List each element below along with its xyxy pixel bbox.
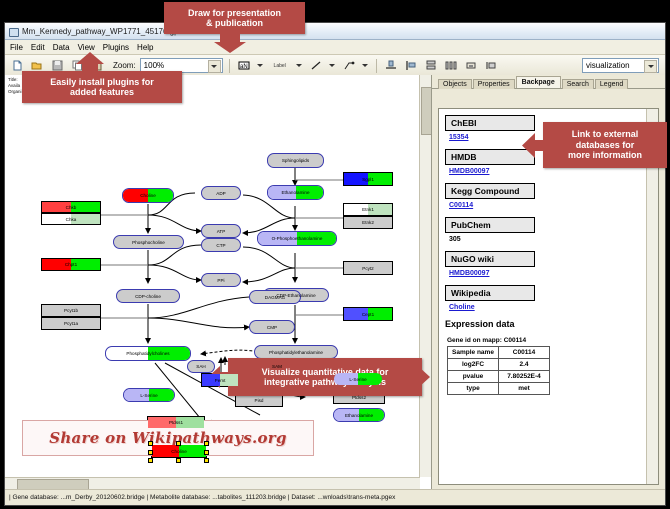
node-label: DAGMAG <box>265 295 285 300</box>
cell-value: C00114 <box>499 347 550 359</box>
status-text: | Gene database: ...m_Derby_20120602.bri… <box>9 494 395 501</box>
menu-file[interactable]: File <box>10 43 23 52</box>
chevron-down-icon[interactable] <box>208 60 221 73</box>
interaction-caret-icon[interactable] <box>361 59 370 73</box>
annotation-link-line3: more information <box>568 150 642 160</box>
node-label: Sphingolipids <box>282 158 309 163</box>
resize-handle-ne[interactable] <box>204 441 209 446</box>
cell-value: met <box>499 383 550 395</box>
annotation-plugins-banner: Easily install plugins for added feature… <box>22 71 182 103</box>
zoom-label: Zoom: <box>113 61 136 70</box>
canvas-vertical-scrollbar[interactable] <box>419 75 431 477</box>
annotation-link-line2: databases for <box>568 140 642 150</box>
annotation-viz-arrow-right-icon <box>408 366 430 388</box>
wikipedia-header: Wikipedia <box>445 285 535 301</box>
node-label: L-Serine <box>140 393 157 398</box>
node-label: Choline <box>140 193 156 198</box>
nugo-link[interactable]: HMDB00097 <box>449 270 644 277</box>
kegg-link[interactable]: C00114 <box>449 202 644 209</box>
resize-handle-se[interactable] <box>204 458 209 463</box>
interaction-icon[interactable] <box>341 58 357 74</box>
node-label: Pcyt1a <box>64 321 78 326</box>
annotation-draw-line1: Draw for presentation <box>188 8 281 18</box>
node-o-phosphoethanolamine[interactable]: O-Phosphoethanolamine <box>257 231 337 246</box>
hmdb-link[interactable]: HMDB00097 <box>449 168 644 175</box>
window-title: Mm_Kennedy_pathway_WP1771_45176.gpml <box>22 27 187 36</box>
node-l-serine-right[interactable]: L-Serine <box>333 372 383 386</box>
menu-plugins[interactable]: Plugins <box>103 43 129 52</box>
node-cdp-choline[interactable]: CDP-choline <box>116 289 180 303</box>
cell-key: Sample name <box>448 347 499 359</box>
table-row: pvalue 7.80252E-4 <box>448 371 550 383</box>
nugo-header: NuGO wiki <box>445 251 535 267</box>
tab-properties[interactable]: Properties <box>473 79 515 89</box>
node-label: Chka <box>66 217 77 222</box>
node-label: CDP-choline <box>135 294 161 299</box>
tab-objects[interactable]: Objects <box>438 79 472 89</box>
line-icon[interactable] <box>308 58 324 74</box>
node-ethanolamine-right[interactable]: Ethanolamine <box>333 408 385 422</box>
svg-text:aN: aN <box>240 64 248 70</box>
table-row: type met <box>448 383 550 395</box>
node-chka[interactable]: Chka <box>41 213 101 225</box>
node-pcyt1a[interactable]: Pcyt1a <box>41 317 101 330</box>
screenshot-root: Mm_Kennedy_pathway_WP1771_45176.gpml Fil… <box>0 0 670 509</box>
visualization-chevron-down-icon[interactable] <box>644 60 657 73</box>
node-pcyt2[interactable]: Pcyt2 <box>343 261 393 275</box>
side-panel-tabs: Objects Properties Backpage Search Legen… <box>432 75 665 89</box>
tab-backpage[interactable]: Backpage <box>516 76 561 88</box>
node-etnk1[interactable]: Etnk1 <box>343 203 393 216</box>
status-bar: | Gene database: ...m_Derby_20120602.bri… <box>5 489 665 505</box>
toolbar-separator <box>229 59 230 73</box>
pubchem-value: 305 <box>449 236 644 243</box>
node-ctp[interactable]: CTP <box>201 238 241 252</box>
node-label: Phosphatidylethanolamine <box>269 350 323 355</box>
annotation-link-banner: Link to external databases for more info… <box>543 122 667 168</box>
node-label: Choline <box>171 449 187 454</box>
annotation-plugins-line2: added features <box>50 87 154 97</box>
node-l-serine-left[interactable]: L-Serine <box>123 388 175 402</box>
datanode-caret-icon[interactable] <box>256 59 265 73</box>
cell-key: pvalue <box>448 371 499 383</box>
node-ethanolamine-top[interactable]: Ethanolamine <box>267 185 324 200</box>
align-left-icon[interactable] <box>403 58 419 74</box>
node-sgpl1[interactable]: Sgpl1 <box>343 172 393 186</box>
cell-key: type <box>448 383 499 395</box>
node-label: SAH <box>196 364 205 369</box>
node-label: ATP <box>217 229 226 234</box>
gene-id-line: Gene id on mapp: C00114 <box>447 337 644 344</box>
node-label: SAM <box>272 364 282 369</box>
annotation-draw-banner: Draw for presentation & publication <box>164 2 305 34</box>
annotation-draw-line2: & publication <box>188 18 281 28</box>
annotation-link-line1: Link to external <box>568 129 642 139</box>
annotation-plugins-arrow-icon <box>76 52 104 73</box>
resize-handle-e[interactable] <box>204 450 209 455</box>
tab-legend[interactable]: Legend <box>595 79 628 89</box>
node-label: Sgpl1 <box>362 177 374 182</box>
node-label: Phosphatidylcholines <box>126 351 169 356</box>
resize-handle-s[interactable] <box>176 458 181 463</box>
tab-search[interactable]: Search <box>562 79 594 89</box>
menu-view[interactable]: View <box>78 43 95 52</box>
node-label: PPi <box>217 278 224 283</box>
node-phosphatidylcholines[interactable]: Phosphatidylcholines <box>105 346 191 361</box>
canvas-vscroll-thumb[interactable] <box>421 87 432 135</box>
title-bar: Mm_Kennedy_pathway_WP1771_45176.gpml <box>5 23 665 40</box>
canvas-hscroll-thumb[interactable] <box>17 479 89 489</box>
resize-handle-w[interactable] <box>148 450 153 455</box>
node-adp[interactable]: ADP <box>201 186 241 200</box>
node-label: Pisd <box>255 398 264 403</box>
menu-bar: File Edit Data View Plugins Help <box>5 40 665 55</box>
visualization-combo[interactable]: visualization <box>582 58 659 73</box>
node-label: CTP <box>216 243 225 248</box>
label-icon[interactable]: Label <box>269 58 291 74</box>
kegg-header: Kegg Compound <box>445 183 535 199</box>
node-label: Pemt <box>215 378 226 383</box>
resize-handle-sw[interactable] <box>148 458 153 463</box>
cell-value: 2.4 <box>499 359 550 371</box>
table-row: log2FC 2.4 <box>448 359 550 371</box>
node-label: Ethanolamine <box>345 413 373 418</box>
node-chpt1[interactable]: Chpt1 <box>41 258 101 271</box>
chebi-header: ChEBI <box>445 115 535 131</box>
node-label: Chpt1 <box>65 262 77 267</box>
menu-data[interactable]: Data <box>53 43 70 52</box>
order-icon[interactable] <box>483 58 499 74</box>
wikipedia-link[interactable]: Choline <box>449 304 644 311</box>
node-label: CMP <box>267 325 277 330</box>
resize-handle-n[interactable] <box>176 441 181 446</box>
menu-help[interactable]: Help <box>137 43 153 52</box>
menu-edit[interactable]: Edit <box>31 43 45 52</box>
zoom-value: 100% <box>144 61 164 70</box>
node-label: L-Serine <box>349 377 366 382</box>
node-label: Ethanolamine <box>281 190 309 195</box>
cell-key: log2FC <box>448 359 499 371</box>
node-chkb[interactable]: Chkb <box>41 201 101 213</box>
annotation-draw-arrow-icon <box>214 33 246 53</box>
node-choline-selected[interactable]: Choline <box>151 444 207 458</box>
node-cept1[interactable]: Cept1 <box>343 307 393 321</box>
node-label: Pcyt2 <box>362 266 374 271</box>
annotation-visualize-banner: Visualize quantitative data for integrat… <box>228 358 422 396</box>
align-bottom-icon[interactable] <box>383 58 399 74</box>
cell-value: 7.80252E-4 <box>499 371 550 383</box>
node-ppi[interactable]: PPi <box>201 273 241 287</box>
stack-icon[interactable] <box>423 58 439 74</box>
node-choline-top[interactable]: Choline <box>122 188 174 203</box>
backpage-body: ChEBI 15354 HMDB HMDB00097 Kegg Compound… <box>445 115 644 484</box>
node-label: Phosphocholine <box>132 240 165 245</box>
node-label: Pcyt1b <box>64 308 78 313</box>
canvas-horizontal-scrollbar[interactable] <box>5 477 420 489</box>
toolbar-separator-2 <box>376 59 377 73</box>
annotation-plugins-line1: Easily install plugins for <box>50 77 154 87</box>
node-label: Etnk2 <box>362 220 374 225</box>
node-pemt[interactable]: Pemt <box>201 373 239 387</box>
node-label: Ptdss2 <box>352 395 366 400</box>
visualization-value: visualization <box>586 61 630 70</box>
node-cmp[interactable]: CMP <box>249 320 295 334</box>
app-icon <box>9 27 18 36</box>
node-label: ADP <box>216 191 225 196</box>
node-phosphocholine[interactable]: Phosphocholine <box>113 235 184 249</box>
annotation-link-arrow-icon <box>522 133 544 158</box>
expression-table: Sample name C00114 log2FC 2.4 pvalue 7.8… <box>447 346 550 395</box>
group-icon[interactable] <box>463 58 479 74</box>
node-phosphatidylethanolamine[interactable]: Phosphatidylethanolamine <box>254 345 338 359</box>
resize-handle-nw[interactable] <box>148 441 153 446</box>
node-atp[interactable]: ATP <box>201 224 241 238</box>
node-label: O-Phosphoethanolamine <box>272 236 323 241</box>
node-label: Ptdss1 <box>169 420 183 425</box>
node-label: Chkb <box>66 205 77 210</box>
distribute-icon[interactable] <box>443 58 459 74</box>
expression-data-title: Expression data <box>445 319 644 329</box>
node-etnk2[interactable]: Etnk2 <box>343 216 393 229</box>
node-label: Etnk1 <box>362 207 374 212</box>
node-pcyt1b[interactable]: Pcyt1b <box>41 304 101 317</box>
label-caret-icon[interactable] <box>295 59 304 73</box>
node-label: Cept1 <box>362 312 374 317</box>
pubchem-header: PubChem <box>445 217 535 233</box>
node-sphingolipids[interactable]: Sphingolipids <box>267 153 324 168</box>
datanode-icon[interactable]: aN <box>236 58 252 74</box>
table-row: Sample name C00114 <box>448 347 550 359</box>
node-ptdss1[interactable]: Ptdss1 <box>147 416 205 429</box>
line-caret-icon[interactable] <box>328 59 337 73</box>
